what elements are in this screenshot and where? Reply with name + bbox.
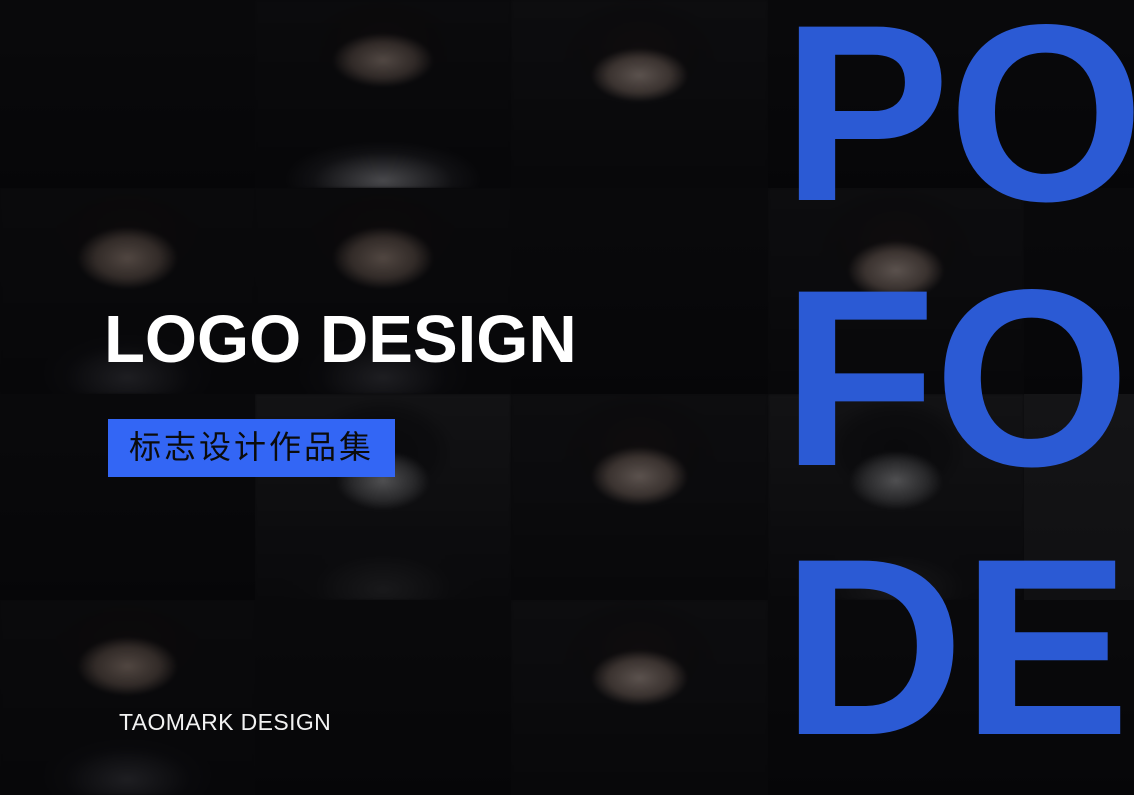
mosaic-tile-r3c3 bbox=[511, 394, 768, 600]
brand-credit: TAOMARK DESIGN bbox=[119, 709, 331, 736]
page-title: LOGO DESIGN bbox=[104, 306, 577, 373]
portrait-image bbox=[255, 0, 511, 188]
mosaic-tile-r4c2 bbox=[255, 600, 511, 795]
portrait-image bbox=[768, 188, 1024, 394]
photo-mosaic-grid bbox=[0, 0, 1134, 795]
portrait-image bbox=[0, 600, 255, 795]
mosaic-tile-r4c1 bbox=[0, 600, 255, 795]
portrait-image bbox=[0, 0, 255, 188]
mosaic-tile-r4c5 bbox=[1024, 600, 1134, 795]
portrait-image bbox=[768, 0, 1024, 188]
mosaic-tile-r3c5 bbox=[1024, 394, 1134, 600]
portrait-image bbox=[511, 0, 768, 188]
portrait-image bbox=[255, 600, 511, 795]
mosaic-tile-r1c1 bbox=[0, 0, 255, 188]
mosaic-tile-r4c4 bbox=[768, 600, 1024, 795]
portrait-image bbox=[768, 394, 1024, 600]
mosaic-tile-r4c3 bbox=[511, 600, 768, 795]
mosaic-tile-r1c4 bbox=[768, 0, 1024, 188]
portrait-image bbox=[1024, 0, 1134, 188]
portrait-image bbox=[1024, 394, 1134, 600]
portrait-image bbox=[768, 600, 1024, 795]
mosaic-tile-r1c3 bbox=[511, 0, 768, 188]
mosaic-tile-r1c5 bbox=[1024, 0, 1134, 188]
portrait-image bbox=[1024, 600, 1134, 795]
poster-canvas: PO FO DE LOGO DESIGN 标志设计作品集 TAOMARK DES… bbox=[0, 0, 1134, 795]
mosaic-tile-r3c4 bbox=[768, 394, 1024, 600]
portrait-image bbox=[1024, 188, 1134, 394]
mosaic-tile-r1c2 bbox=[255, 0, 511, 188]
mosaic-tile-r2c4 bbox=[768, 188, 1024, 394]
portrait-image bbox=[511, 600, 768, 795]
subtitle-badge: 标志设计作品集 bbox=[108, 419, 395, 477]
portrait-image bbox=[511, 394, 768, 600]
mosaic-tile-r2c5 bbox=[1024, 188, 1134, 394]
